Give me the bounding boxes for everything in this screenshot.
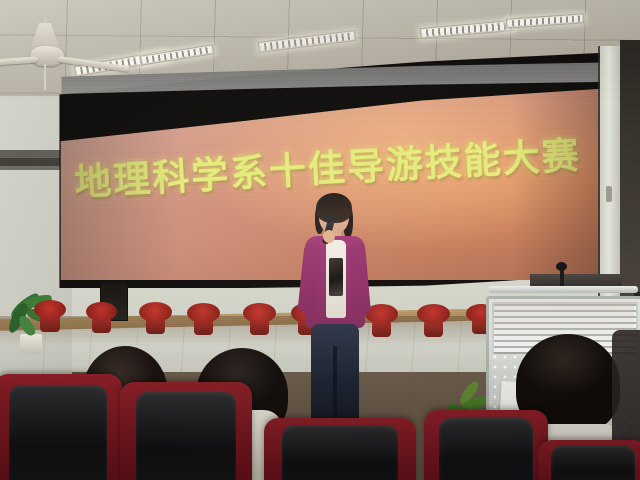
poinsettia-bloom bbox=[243, 303, 276, 323]
auditorium-seat[interactable] bbox=[0, 374, 122, 480]
seat-pad bbox=[136, 392, 236, 480]
booth-rail bbox=[488, 286, 638, 293]
poinsettia-bloom bbox=[139, 302, 172, 322]
auditorium-seat[interactable] bbox=[264, 418, 416, 480]
pillar-clip bbox=[606, 186, 612, 202]
poinsettia-bloom bbox=[34, 300, 66, 319]
seat-pad bbox=[9, 385, 106, 480]
presenter-hand bbox=[323, 230, 335, 243]
auditorium-photo: 地理科学系十佳导游技能大赛 bbox=[0, 0, 640, 480]
seat-pad bbox=[282, 425, 398, 480]
presenter bbox=[297, 196, 373, 428]
right-dark-recess bbox=[620, 40, 640, 300]
poinsettia-bloom bbox=[187, 303, 220, 323]
poinsettia-pot bbox=[424, 322, 443, 337]
plant-pot bbox=[20, 334, 42, 354]
booth-microphone-head-icon bbox=[556, 262, 567, 271]
auditorium-seat[interactable] bbox=[424, 410, 548, 480]
presenter-leg-gap bbox=[333, 346, 337, 422]
poinsettia-bloom bbox=[417, 304, 450, 324]
auditorium-seat[interactable] bbox=[538, 440, 640, 480]
presenter-hair bbox=[316, 193, 352, 223]
presenter-shirt-print bbox=[329, 258, 343, 296]
ceiling-fan-pull-cord bbox=[44, 64, 46, 90]
microphone-head-icon bbox=[324, 213, 334, 223]
seat-pad bbox=[551, 445, 635, 480]
seat-pad bbox=[439, 418, 533, 480]
auditorium-seat[interactable] bbox=[120, 382, 252, 480]
audience-member-far-right bbox=[612, 330, 640, 450]
poinsettia-pot bbox=[372, 322, 391, 337]
poinsettia-bloom bbox=[86, 302, 117, 321]
room-pillar bbox=[600, 46, 622, 296]
